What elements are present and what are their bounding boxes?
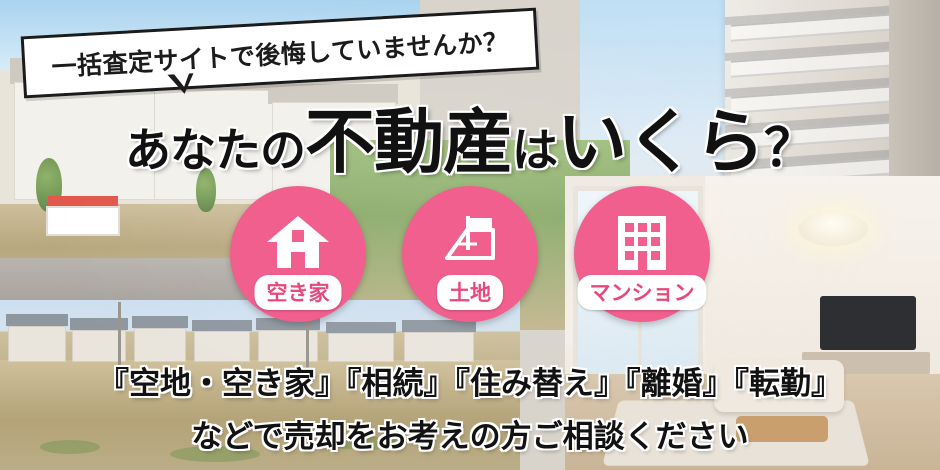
bottom-copy: 『空地・空き家』『相続』『住み替え』『離婚』『転勤』 などで売却をお考えの方ご相…: [0, 358, 940, 456]
banner-content: 一括査定サイトで後悔していませんか？ あなたの不動産はいくら？ 空き家: [0, 0, 940, 470]
top-question-ribbon: 一括査定サイトで後悔していませんか？: [21, 8, 540, 99]
headline-part-1: あなたの: [125, 124, 305, 176]
apartment-building-icon: [612, 214, 672, 277]
category-label-land: 土地: [437, 275, 503, 310]
bottom-copy-line-2: などで売却をお考えの方ご相談ください: [0, 411, 940, 456]
category-label-apartment: マンション: [578, 275, 707, 310]
ribbon-text: 一括査定サイトで後悔していませんか？: [51, 22, 510, 83]
category-badge-land[interactable]: 土地: [402, 186, 538, 322]
category-label-vacant-house: 空き家: [255, 275, 342, 310]
headline-part-2: 不動産: [305, 103, 512, 181]
headline: あなたの不動産はいくら？: [0, 86, 940, 187]
headline-part-3: は: [512, 124, 557, 176]
house-icon: [265, 214, 331, 277]
bottom-copy-line-1: 『空地・空き家』『相続』『住み替え』『離婚』『転勤』: [0, 358, 940, 403]
real-estate-appraisal-banner: 一括査定サイトで後悔していませんか？ あなたの不動産はいくら？ 空き家: [0, 0, 940, 470]
headline-question-mark: ？: [764, 120, 815, 178]
land-flag-icon: [437, 214, 503, 277]
category-badges: 空き家 土地: [0, 186, 940, 322]
headline-part-4: いくら: [557, 103, 764, 181]
category-badge-vacant-house[interactable]: 空き家: [230, 186, 366, 322]
category-badge-apartment[interactable]: マンション: [574, 186, 710, 322]
